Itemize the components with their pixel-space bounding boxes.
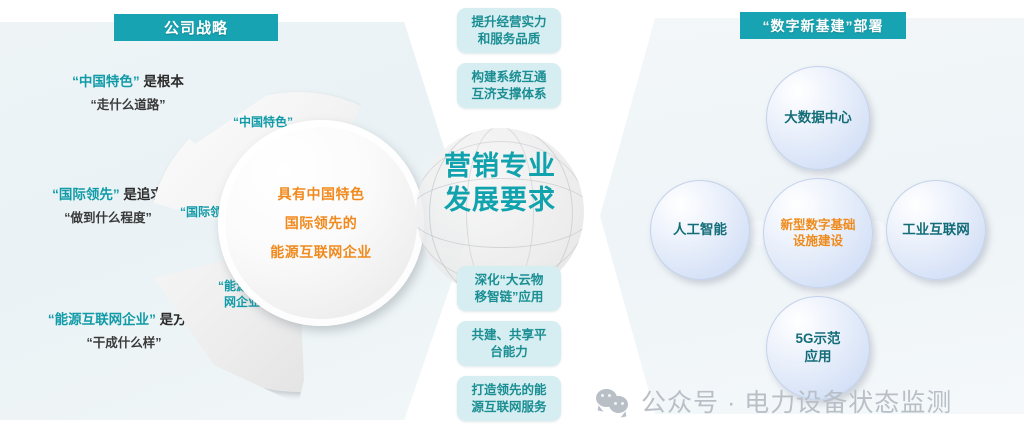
requirement-pill-2[interactable]: 构建系统互通 互济支撑体系 [457,63,561,108]
left-panel-header: 公司战略 [114,14,278,41]
donut-hub-line-2: 国际领先的 [285,213,358,233]
infra-circle-center[interactable]: 新型数字基础 设施建设 [763,178,873,288]
donut-hub-line-1: 具有中国特色 [278,184,365,204]
infra-circle-ai[interactable]: 人工智能 [650,180,750,280]
wechat-dot-3 [614,402,617,405]
strategy-donut-diagram: “中国特色” “国际领先” “能源互联 网企业” 具有中国特色 国际领先的 能源… [148,92,448,392]
footer-watermark-text: 公众号 · 电力设备状态监测 [641,383,952,419]
infographic-root: 公司战略 “中国特色” 是根本 “走什么道路” “国际领先” 是追求 “做到什么… [0,0,1024,439]
footer-watermark: 公众号 · 电力设备状态监测 [596,383,952,419]
requirement-pill-5[interactable]: 打造领先的能 源互联网服务 [457,376,561,421]
left-outer-label-1-main: “中国特色” 是根本 [28,72,228,92]
wechat-dot-4 [621,402,624,405]
center-title-line-1: 营销专业 [414,150,586,184]
wechat-bubble-small [609,396,628,413]
requirement-pill-3[interactable]: 深化“大云物 移智链”应用 [457,266,561,311]
wechat-dot-1 [601,394,604,397]
infra-circle-industrial-internet[interactable]: 工业互联网 [886,180,986,280]
left-outer-label-1-rest: 是根本 [140,74,184,89]
left-outer-label-3-accent: “能源互联网企业” [48,312,156,327]
center-title-line-2: 发展要求 [414,184,586,218]
wechat-dot-2 [608,394,611,397]
donut-hub-line-3: 能源互联网企业 [270,242,372,262]
donut-hub: 具有中国特色 国际领先的 能源互联网企业 [218,120,424,326]
center-title: 营销专业 发展要求 [414,150,586,218]
wechat-icon [596,388,630,414]
requirement-pill-1[interactable]: 提升经营实力 和服务品质 [457,8,561,53]
left-outer-label-2-accent: “国际领先” [52,187,120,202]
left-outer-label-1-accent: “中国特色” [72,74,140,89]
infra-circle-big-data-center[interactable]: 大数据中心 [766,66,870,170]
right-panel-header: “数字新基建”部署 [740,12,906,39]
requirement-pill-4[interactable]: 共建、共享平 台能力 [457,321,561,366]
